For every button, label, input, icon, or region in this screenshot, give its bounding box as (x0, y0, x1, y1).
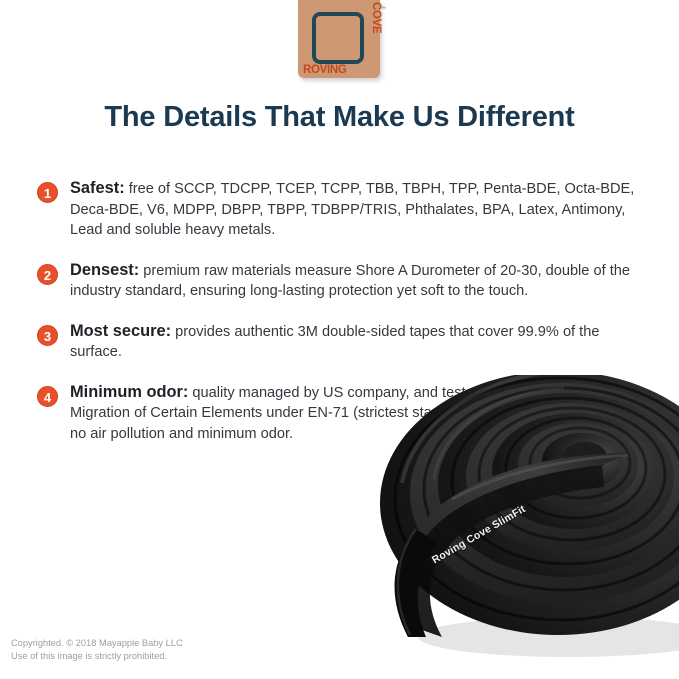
logo-word-cove: COVE (370, 2, 382, 33)
logo-square-mark (312, 12, 364, 64)
feature-text: Safest: free of SCCP, TDCPP, TCEP, TCPP,… (70, 178, 644, 241)
feature-number-badge: 3 (37, 325, 58, 346)
page-title: The Details That Make Us Different (0, 101, 679, 134)
feature-number-badge: 4 (37, 386, 58, 407)
feature-lead-label: Densest: (70, 261, 139, 279)
logo-word-roving: ROVING (303, 65, 347, 77)
feature-lead-label: Most secure: (70, 322, 171, 340)
feature-number-badge: 2 (37, 264, 58, 285)
copyright-line-2: Use of this image is strictly prohibited… (11, 650, 183, 663)
feature-lead-label: Minimum odor: (70, 383, 188, 401)
feature-item-most-secure: 3 Most secure: provides authentic 3M dou… (36, 321, 644, 363)
feature-lead-label: Safest: (70, 179, 125, 197)
feature-item-safest: 1 Safest: free of SCCP, TDCPP, TCEP, TCP… (36, 178, 644, 241)
trademark-icon: ™ (381, 6, 386, 12)
feature-item-densest: 2 Densest: premium raw materials measure… (36, 260, 644, 302)
feature-body-text: free of SCCP, TDCPP, TCEP, TCPP, TBB, TB… (70, 181, 634, 238)
feature-text: Most secure: provides authentic 3M doubl… (70, 321, 644, 363)
feature-text: Densest: premium raw materials measure S… (70, 260, 644, 302)
feature-list: 1 Safest: free of SCCP, TDCPP, TCEP, TCP… (36, 178, 644, 463)
feature-body-text: premium raw materials measure Shore A Du… (70, 263, 630, 300)
brand-logo: ROVING COVE ™ (298, 0, 380, 78)
footer-copyright: Copyrighted. © 2018 Mayapple Baby LLC Us… (11, 637, 183, 662)
coil-free-end (395, 453, 630, 637)
feature-text: Minimum odor: quality managed by US comp… (70, 382, 644, 445)
product-brand-label: Roving Cove SlimFit (430, 503, 528, 566)
feature-item-minimum-odor: 4 Minimum odor: quality managed by US co… (36, 382, 644, 445)
copyright-line-1: Copyrighted. © 2018 Mayapple Baby LLC (11, 637, 183, 650)
feature-number-badge: 1 (37, 182, 58, 203)
